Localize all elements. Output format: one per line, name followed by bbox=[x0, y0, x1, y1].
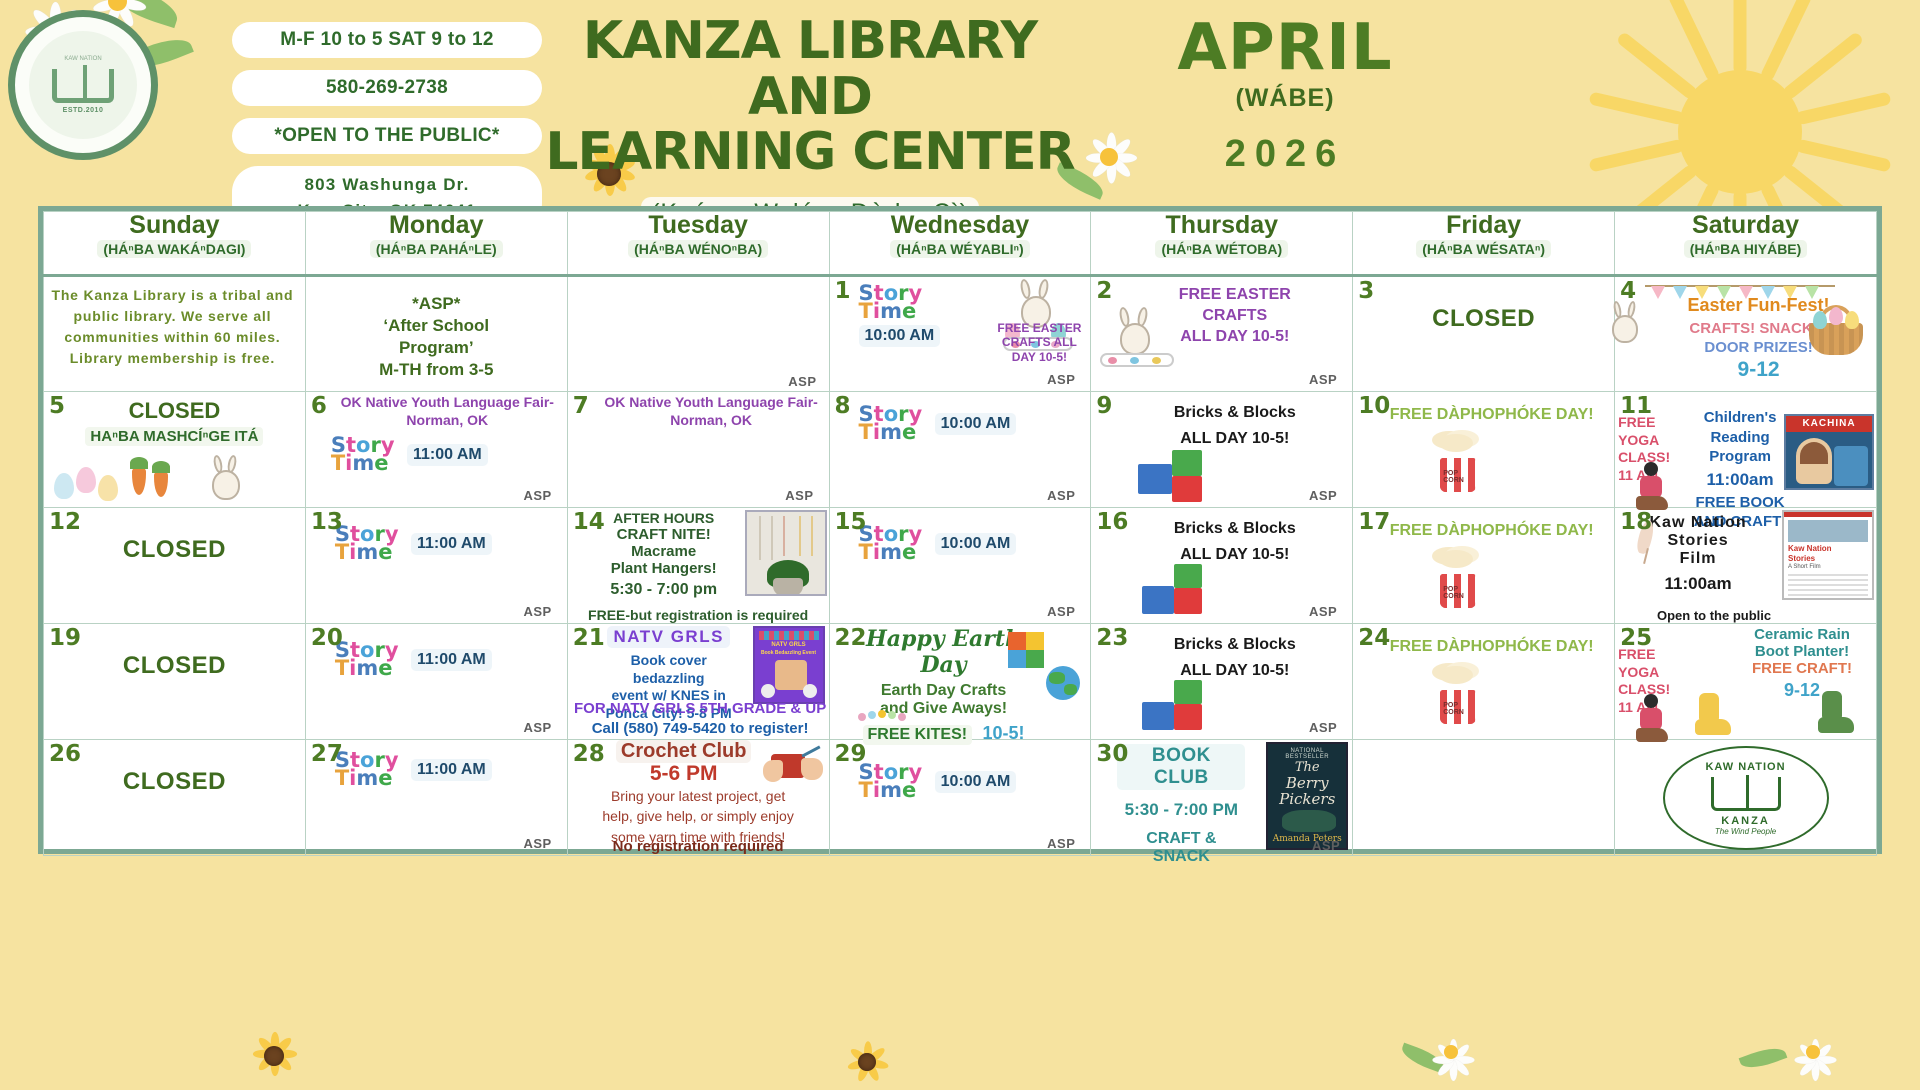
lego-blocks-icon bbox=[1138, 672, 1218, 732]
day-number-15: 15 bbox=[835, 509, 867, 535]
story-time-logo: Story Time bbox=[335, 752, 399, 788]
calendar-cell-day-5[interactable]: 5 CLOSED HAⁿBA MASHCÍⁿGE ITÁ bbox=[44, 392, 306, 508]
library-logo: KAW NATION ESTD.2010 bbox=[8, 10, 158, 160]
weekday-name-saturday: Saturday bbox=[1615, 212, 1876, 238]
natv-grls-grade-note: FOR NATV GRLS 5TH GRADE & UP bbox=[570, 700, 831, 717]
day-number-21: 21 bbox=[573, 625, 605, 651]
calendar-cell-day-19[interactable]: 19 CLOSED bbox=[44, 624, 306, 740]
calendar-cell-day-26[interactable]: 26 CLOSED bbox=[44, 740, 306, 856]
weekday-native-wednesday: (HÁⁿBA WÉYABLIⁿ) bbox=[890, 240, 1030, 258]
story-time-logo: Story Time bbox=[859, 285, 923, 321]
calendar-cell-day-14[interactable]: 14 AFTER HOURS CRAFT NITE! Macrame Plant… bbox=[567, 508, 829, 624]
earth-day-title: Happy Earth Day bbox=[854, 626, 1034, 678]
weekday-header-saturday: Saturday (HÁⁿBA HIYÁBE) bbox=[1615, 212, 1877, 276]
calendar-week-3: 12 CLOSED 13 Story Time 11:00 AM ASP bbox=[44, 508, 1877, 624]
asp-tag: ASP bbox=[1047, 836, 1075, 851]
flyer-subtitle: Book Bedazzling Event bbox=[755, 650, 823, 656]
book-cover-berry-pickers[interactable]: NATIONAL BESTSELLER The Berry Pickers Am… bbox=[1266, 742, 1348, 850]
calendar-cell-day-9[interactable]: 9 Bricks & Blocks ALL DAY 10-5! ASP bbox=[1091, 392, 1353, 508]
story-time-8-time: 10:00 AM bbox=[935, 413, 1017, 435]
rain-boot-line-1: Ceramic Rain bbox=[1732, 626, 1872, 643]
month-native-name: (WÁBE) bbox=[1110, 84, 1460, 113]
day-number-23: 23 bbox=[1096, 625, 1128, 651]
earth-globe-icon bbox=[1046, 666, 1080, 700]
day-number-7: 7 bbox=[573, 393, 589, 419]
day-number-6: 6 bbox=[311, 393, 327, 419]
film-poster-title-2: Stories bbox=[1788, 554, 1815, 563]
after-hours-line-1: AFTER HOURS bbox=[596, 510, 732, 526]
bricks-blocks-title-16: Bricks & Blocks bbox=[1120, 520, 1349, 538]
film-poster-title-1: Kaw Nation bbox=[1788, 544, 1832, 553]
calendar-cell-day-29[interactable]: 29 Story Time 10:00 AM ASP bbox=[829, 740, 1091, 856]
story-time-logo: Story Time bbox=[335, 642, 399, 678]
day-number-4: 4 bbox=[1620, 278, 1636, 304]
calendar-cell-day-16[interactable]: 16 Bricks & Blocks ALL DAY 10-5! ASP bbox=[1091, 508, 1353, 624]
macrame-plant-hanger-photo[interactable] bbox=[745, 510, 827, 596]
asp-tag: ASP bbox=[1047, 488, 1075, 503]
story-time-logo: Story Time bbox=[859, 526, 923, 562]
day-number-28: 28 bbox=[573, 741, 605, 767]
day-number-16: 16 bbox=[1096, 509, 1128, 535]
day-number-10: 10 bbox=[1358, 393, 1390, 419]
calendar-cell-day-23[interactable]: 23 Bricks & Blocks ALL DAY 10-5! ASP bbox=[1091, 624, 1353, 740]
asp-tag: ASP bbox=[1309, 720, 1337, 735]
library-intro-text: The Kanza Library is a tribal and public… bbox=[47, 279, 302, 369]
day-number-1: 1 bbox=[835, 278, 851, 304]
story-time-logo: Story Time bbox=[335, 526, 399, 562]
calendar-cell-day-24[interactable]: 24 FREE DÀPHOPHÓKE DAY! POPCORN bbox=[1353, 624, 1615, 740]
story-time-13-time: 11:00 AM bbox=[411, 533, 492, 555]
bricks-blocks-title-9: Bricks & Blocks bbox=[1120, 404, 1349, 422]
asp-tag: ASP bbox=[523, 836, 551, 851]
weekday-native-monday: (HÁⁿBA PAHÁⁿLE) bbox=[370, 240, 503, 258]
asp-tag: ASP bbox=[523, 604, 551, 619]
daphophoke-label-24: FREE DÀPHOPHÓKE DAY! bbox=[1372, 638, 1611, 656]
asp-tag: ASP bbox=[1309, 604, 1337, 619]
book-club-time: 5:30 - 7:00 PM bbox=[1117, 800, 1245, 820]
macrame-time: 5:30 - 7:00 pm bbox=[596, 581, 732, 599]
daphophoke-label-10: FREE DÀPHOPHÓKE DAY! bbox=[1372, 406, 1611, 424]
weekday-header-row: Sunday (HÁⁿBA WAKÁⁿDAGI) Monday (HÁⁿBA P… bbox=[44, 212, 1877, 276]
asp-title: *ASP* bbox=[309, 293, 564, 315]
seal-line-3: The Wind People bbox=[1715, 827, 1776, 836]
after-hours-line-2: CRAFT NITE! bbox=[596, 526, 732, 543]
weekday-header-monday: Monday (HÁⁿBA PAHÁⁿLE) bbox=[305, 212, 567, 276]
calendar-cell-blank-tue[interactable]: ASP bbox=[567, 276, 829, 392]
weekday-native-sunday: (HÁⁿBA WAKÁⁿDAGI) bbox=[97, 240, 251, 258]
story-time-logo: Story Time bbox=[331, 437, 395, 473]
day-number-20: 20 bbox=[311, 625, 343, 651]
calendar-cell-day-1[interactable]: 1 Story Time 10:00 AM bbox=[829, 276, 1091, 392]
asp-tag: ASP bbox=[1047, 372, 1075, 387]
natv-grls-flyer[interactable]: NATV GRLS Book Bedazzling Event bbox=[753, 626, 825, 704]
kaw-stories-time: 11:00am bbox=[1643, 574, 1753, 594]
crochet-club-title: Crochet Club bbox=[616, 740, 752, 763]
calendar-cell-day-20[interactable]: 20 Story Time 11:00 AM ASP bbox=[305, 624, 567, 740]
weekday-name-wednesday: Wednesday bbox=[830, 212, 1091, 238]
closed-label-3: CLOSED bbox=[1356, 305, 1611, 333]
hours-pill: M-F 10 to 5 SAT 9 to 12 bbox=[232, 22, 542, 58]
story-time-logo: Story Time bbox=[859, 764, 923, 800]
calendar-cell-day-10[interactable]: 10 FREE DÀPHOPHÓKE DAY! POPCORN bbox=[1353, 392, 1615, 508]
no-registration-note-28: No registration required bbox=[568, 838, 829, 855]
day-number-5: 5 bbox=[49, 393, 65, 419]
calendar-cell-asp-info[interactable]: *ASP* ‘After School Program’ M-TH from 3… bbox=[305, 276, 567, 392]
day-number-8: 8 bbox=[835, 393, 851, 419]
weekday-native-friday: (HÁⁿBA WÉSATAⁿ) bbox=[1416, 240, 1551, 258]
weekday-name-sunday: Sunday bbox=[44, 212, 305, 238]
phone-pill: 580-269-2738 bbox=[232, 70, 542, 106]
story-time-15-time: 10:00 AM bbox=[935, 533, 1017, 555]
calendar-grid: Sunday (HÁⁿBA WAKÁⁿDAGI) Monday (HÁⁿBA P… bbox=[38, 206, 1882, 854]
story-time-1-time: 10:00 AM bbox=[859, 325, 941, 347]
closed-label-26: CLOSED bbox=[47, 768, 302, 796]
asp-tag: ASP bbox=[523, 488, 551, 503]
seal-line-2: KANZA bbox=[1721, 815, 1770, 827]
day-number-22: 22 bbox=[835, 625, 867, 651]
day-number-26: 26 bbox=[49, 741, 81, 767]
asp-tag: ASP bbox=[788, 374, 816, 389]
day-number-14: 14 bbox=[573, 509, 605, 535]
story-time-29-time: 10:00 AM bbox=[935, 771, 1017, 793]
day-number-9: 9 bbox=[1096, 393, 1112, 419]
calendar-cell-day-3[interactable]: 3 CLOSED bbox=[1353, 276, 1615, 392]
lego-blocks-icon bbox=[1138, 440, 1218, 500]
crochet-hands-icon bbox=[763, 744, 823, 786]
calendar-cell-day-22[interactable]: 22 Happy Earth Day Earth Day Crafts and … bbox=[829, 624, 1091, 740]
closed-label-12: CLOSED bbox=[47, 536, 302, 564]
crochet-desc-line-1: Bring your latest project, get bbox=[572, 786, 825, 806]
calendar-cell-day-6[interactable]: 6 OK Native Youth Language Fair-Norman, … bbox=[305, 392, 567, 508]
yoga-figure-icon bbox=[1632, 694, 1674, 744]
bottom-flower-decoration bbox=[0, 1020, 1920, 1080]
calendar-cell-day-30[interactable]: 30 BOOK CLUB 5:30 - 7:00 PM CRAFT & SNAC… bbox=[1091, 740, 1353, 856]
calendar-week-2: 5 CLOSED HAⁿBA MASHCÍⁿGE ITÁ bbox=[44, 392, 1877, 508]
earth-day-line-1: Earth Day Crafts bbox=[854, 682, 1034, 700]
logo-estd-text: ESTD.2010 bbox=[63, 107, 104, 114]
address-line-1: 803 Washunga Dr. bbox=[242, 172, 532, 198]
asp-tag: ASP bbox=[1309, 488, 1337, 503]
closed-label-5: CLOSED bbox=[47, 398, 302, 424]
day-number-19: 19 bbox=[49, 625, 81, 651]
weekday-name-friday: Friday bbox=[1353, 212, 1614, 238]
bricks-blocks-title-23: Bricks & Blocks bbox=[1120, 636, 1349, 654]
calendar-cell-day-4[interactable]: 4 Easter Fun-Fest! CRAFTS! SNACKS! bbox=[1615, 276, 1877, 392]
crochet-desc-line-2: help, give help, or simply enjoy bbox=[572, 806, 825, 826]
easter-craft-line-1: FREE EASTER bbox=[1120, 285, 1349, 306]
free-craft-label-25: FREE CRAFT! bbox=[1732, 660, 1872, 677]
page-header: KAW NATION ESTD.2010 M-F 10 to 5 SAT 9 t… bbox=[0, 0, 1920, 205]
story-time-20-time: 11:00 AM bbox=[411, 649, 492, 671]
asp-line-2: Program’ bbox=[309, 337, 564, 359]
asp-line-3: M-TH from 3-5 bbox=[309, 359, 564, 381]
day-number-18: 18 bbox=[1620, 509, 1652, 535]
asp-tag: ASP bbox=[1047, 604, 1075, 619]
weekday-name-tuesday: Tuesday bbox=[568, 212, 829, 238]
calendar-cell-day-8[interactable]: 8 Story Time 10:00 AM ASP bbox=[829, 392, 1091, 508]
macrame-line-1: Macrame bbox=[596, 543, 732, 560]
registration-required-note-14: FREE-but registration is required bbox=[568, 607, 829, 623]
book-club-title: BOOK CLUB bbox=[1117, 744, 1245, 790]
daphophoke-label-17: FREE DÀPHOPHÓKE DAY! bbox=[1372, 522, 1611, 540]
kite-icon bbox=[1008, 632, 1044, 668]
easter-basket-icon bbox=[1803, 303, 1869, 357]
easter-native-label: HAⁿBA MASHCÍⁿGE ITÁ bbox=[85, 427, 263, 446]
open-to-public-note-18: Open to the public bbox=[1639, 608, 1789, 623]
calendar-cell-intro[interactable]: The Kanza Library is a tribal and public… bbox=[44, 276, 306, 392]
funfest-time: 9-12 bbox=[1644, 358, 1873, 382]
asp-line-1: ‘After School bbox=[309, 315, 564, 337]
asp-tag: ASP bbox=[1309, 372, 1337, 387]
lego-blocks-icon bbox=[1138, 556, 1218, 616]
kaw-nation-seal: KAW NATION KANZA The Wind People bbox=[1663, 746, 1829, 850]
language-fair-label-7: OK Native Youth Language Fair-Norman, OK bbox=[597, 394, 826, 429]
free-easter-crafts-note-1: FREE EASTER CRAFTS ALL DAY 10-5! bbox=[993, 321, 1085, 364]
popcorn-icon: POPCORN bbox=[1430, 546, 1488, 608]
calendar-cell-day-28[interactable]: 28 Crochet Club 5-6 PM Bring your latest… bbox=[567, 740, 829, 856]
weekday-header-friday: Friday (HÁⁿBA WÉSATAⁿ) bbox=[1353, 212, 1615, 276]
weekday-native-tuesday: (HÁⁿBA WÉNOⁿBA) bbox=[628, 240, 768, 258]
natv-grls-line-1: Book cover bedazzling bbox=[594, 652, 744, 687]
calendar-cell-day-18[interactable]: 18 Kaw Nation Stories Film 11:00am Kaw N… bbox=[1615, 508, 1877, 624]
calendar-cell-day-25[interactable]: 25 FREE YOGA CLASS! 11 AM Ceramic Rain B… bbox=[1615, 624, 1877, 740]
kachina-book-cover[interactable]: KACHINA bbox=[1784, 414, 1874, 490]
day-number-30: 30 bbox=[1096, 741, 1128, 767]
childrens-program-line-3: Program bbox=[1687, 447, 1793, 467]
day-number-11: 11 bbox=[1620, 393, 1652, 419]
day-number-25: 25 bbox=[1620, 625, 1652, 651]
calendar-cell-empty-fri[interactable] bbox=[1353, 740, 1615, 856]
weekday-name-thursday: Thursday bbox=[1091, 212, 1352, 238]
weekday-header-wednesday: Wednesday (HÁⁿBA WÉYABLIⁿ) bbox=[829, 212, 1091, 276]
day-number-12: 12 bbox=[49, 509, 81, 535]
day-number-27: 27 bbox=[311, 741, 343, 767]
calendar-cell-day-11[interactable]: 11 FREE YOGA CLASS! 11 AM Children's Rea… bbox=[1615, 392, 1877, 508]
easter-eggs-bunny-icon bbox=[48, 451, 298, 505]
calendar-week-4: 19 CLOSED 20 Story Time 11:00 AM ASP bbox=[44, 624, 1877, 740]
story-time-logo: Story Time bbox=[859, 406, 923, 442]
beaded-bracelet-icon bbox=[858, 709, 910, 725]
calendar-cell-day-7[interactable]: 7 OK Native Youth Language Fair-Norman, … bbox=[567, 392, 829, 508]
asp-tag: ASP bbox=[523, 720, 551, 735]
title-line-2: LEARNING CENTER bbox=[530, 125, 1090, 181]
story-time-6-time: 11:00 AM bbox=[407, 444, 488, 466]
month-block: APRIL (WÁBE) 2026 bbox=[1110, 16, 1460, 176]
logo-seal-text: KAW NATION bbox=[64, 56, 101, 63]
day-number-13: 13 bbox=[311, 509, 343, 535]
day-number-3: 3 bbox=[1358, 278, 1374, 304]
weekday-native-saturday: (HÁⁿBA HIYÁBE) bbox=[1684, 240, 1808, 258]
crochet-club-time: 5-6 PM bbox=[594, 762, 774, 786]
natv-grls-title: NATV GRLS bbox=[607, 626, 729, 648]
story-time-27-time: 11:00 AM bbox=[411, 759, 492, 781]
asp-tag: ASP bbox=[785, 488, 813, 503]
flyer-title: NATV GRLS bbox=[755, 642, 823, 648]
month-name: APRIL bbox=[1110, 16, 1460, 80]
yellow-boot-icon bbox=[1689, 689, 1739, 737]
book-icon bbox=[52, 69, 114, 103]
closed-label-19: CLOSED bbox=[47, 652, 302, 680]
weekday-header-sunday: Sunday (HÁⁿBA WAKÁⁿDAGI) bbox=[44, 212, 306, 276]
bunny-icon bbox=[1600, 301, 1648, 351]
popcorn-icon: POPCORN bbox=[1430, 430, 1488, 492]
language-fair-label-6: OK Native Youth Language Fair-Norman, OK bbox=[331, 394, 564, 429]
book-title-line-3: Pickers bbox=[1268, 790, 1346, 808]
macrame-line-2: Plant Hangers! bbox=[596, 560, 732, 577]
weekday-native-thursday: (HÁⁿBA WÉTOBA) bbox=[1155, 240, 1288, 258]
library-info-column: M-F 10 to 5 SAT 9 to 12 580-269-2738 *OP… bbox=[232, 22, 542, 229]
weekday-name-monday: Monday bbox=[306, 212, 567, 238]
seal-line-1: KAW NATION bbox=[1705, 761, 1785, 773]
green-boot-icon bbox=[1812, 687, 1862, 737]
childrens-program-line-2: Reading bbox=[1687, 428, 1793, 448]
asp-tag: ASP bbox=[1312, 838, 1340, 853]
calendar-week-5: 26 CLOSED 27 Story Time 11:00 AM ASP bbox=[44, 740, 1877, 856]
year-label: 2026 bbox=[1110, 133, 1460, 176]
childrens-program-line-1: Children's bbox=[1687, 408, 1793, 428]
day-number-2: 2 bbox=[1096, 278, 1112, 304]
calendar-week-1: The Kanza Library is a tribal and public… bbox=[44, 276, 1877, 392]
day-number-17: 17 bbox=[1358, 509, 1390, 535]
yoga-figure-icon bbox=[1632, 462, 1674, 512]
calendar-cell-day-2[interactable]: 2 FREE EASTER CRAFTS ALL DAY 10-5! bbox=[1091, 276, 1353, 392]
rain-boot-line-2: Boot Planter! bbox=[1732, 643, 1872, 660]
weekday-header-thursday: Thursday (HÁⁿBA WÉTOBA) bbox=[1091, 212, 1353, 276]
calendar-cell-day-27[interactable]: 27 Story Time 11:00 AM ASP bbox=[305, 740, 567, 856]
calendar-cell-empty-sat[interactable]: KAW NATION KANZA The Wind People bbox=[1615, 740, 1877, 856]
calendar-cell-day-13[interactable]: 13 Story Time 11:00 AM ASP bbox=[305, 508, 567, 624]
film-poster-subtitle: A Short Film bbox=[1788, 564, 1821, 570]
natv-grls-register-note: Call (580) 749-5420 to register! bbox=[570, 720, 831, 737]
popcorn-icon: POPCORN bbox=[1430, 662, 1488, 724]
open-to-public-pill: *OPEN TO THE PUBLIC* bbox=[232, 118, 542, 154]
title-line-1: KANZA LIBRARY AND bbox=[530, 14, 1090, 125]
kaw-stories-film-poster[interactable]: Kaw Nation Stories A Short Film bbox=[1782, 510, 1874, 600]
calendar-cell-day-15[interactable]: 15 Story Time 10:00 AM ASP bbox=[829, 508, 1091, 624]
childrens-program-time: 11:00am bbox=[1687, 470, 1793, 490]
day-number-24: 24 bbox=[1358, 625, 1390, 651]
calendar-title-block: KANZA LIBRARY AND LEARNING CENTER (Kaáⁿz… bbox=[530, 14, 1090, 230]
calendar-cell-day-21[interactable]: 21 NATV GRLS Book cover bedazzling event… bbox=[567, 624, 829, 740]
bunny-palette-icon bbox=[1098, 307, 1178, 369]
day-number-29: 29 bbox=[835, 741, 867, 767]
calendar-cell-day-17[interactable]: 17 FREE DÀPHOPHÓKE DAY! POPCORN bbox=[1353, 508, 1615, 624]
book-title-line-1: The bbox=[1268, 760, 1346, 775]
calendar-cell-day-12[interactable]: 12 CLOSED bbox=[44, 508, 306, 624]
kachina-title: KACHINA bbox=[1786, 416, 1872, 432]
weekday-header-tuesday: Tuesday (HÁⁿBA WÉNOⁿBA) bbox=[567, 212, 829, 276]
book-club-craft-snack: CRAFT & SNACK bbox=[1117, 830, 1245, 866]
